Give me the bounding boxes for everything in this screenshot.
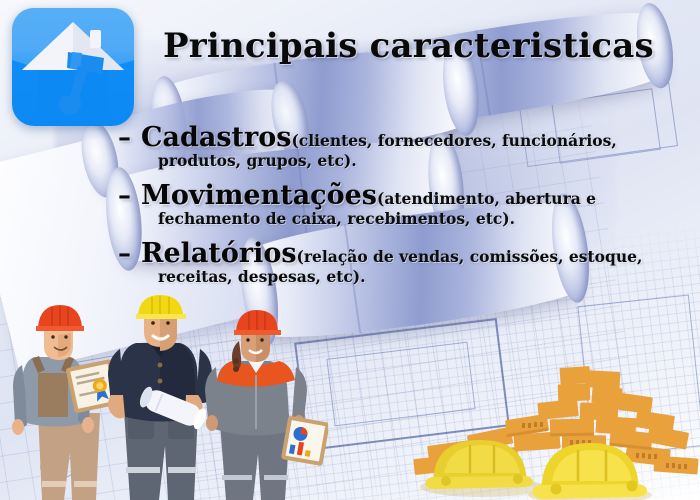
bullet-detail-line1: (atendimento, abertura e: [377, 189, 596, 208]
list-item: –Relatórios(relação de vendas, comissões…: [118, 238, 700, 286]
bullet-detail-line2: fechamento de caixa, recebimentos, etc).: [158, 209, 700, 228]
bullet-dash-icon: –: [118, 239, 131, 269]
bullet-line-1: –Movimentações(atendimento, abertura e: [118, 180, 700, 211]
bullet-heading: Cadastros: [141, 122, 291, 153]
worker-right: [205, 310, 328, 500]
bullet-dash-icon: –: [118, 181, 131, 211]
bullet-heading: Movimentações: [141, 180, 377, 211]
house-hammer-app-icon[interactable]: [12, 8, 134, 126]
bricks-and-hard-hats: [410, 365, 700, 500]
list-item: –Movimentações(atendimento, abertura e f…: [118, 180, 700, 228]
worker-left: [12, 305, 120, 500]
report-clipboard: [281, 416, 328, 467]
bullet-detail-line1: (relação de vendas, comissões, estoque,: [297, 247, 643, 266]
bullet-detail-line2: produtos, grupos, etc).: [158, 151, 700, 170]
bullet-dash-icon: –: [118, 123, 131, 153]
app-icon-art: [12, 8, 134, 126]
bullet-line-1: –Relatórios(relação de vendas, comissões…: [118, 238, 700, 269]
bullet-detail-line1: (clientes, fornecedores, funcionários,: [291, 131, 616, 150]
worker-center: [108, 295, 212, 500]
bullet-heading: Relatórios: [141, 238, 297, 269]
three-construction-workers: [8, 295, 328, 500]
page-title: Principais caracteristicas: [163, 26, 654, 66]
bullet-line-1: –Cadastros(clientes, fornecedores, funci…: [118, 122, 700, 153]
bullet-detail-line2: receitas, despesas, etc).: [158, 267, 700, 286]
poster-canvas: Principais caracteristicas –Cadastros(cl…: [0, 0, 700, 500]
feature-list: –Cadastros(clientes, fornecedores, funci…: [118, 122, 700, 296]
list-item: –Cadastros(clientes, fornecedores, funci…: [118, 122, 700, 170]
